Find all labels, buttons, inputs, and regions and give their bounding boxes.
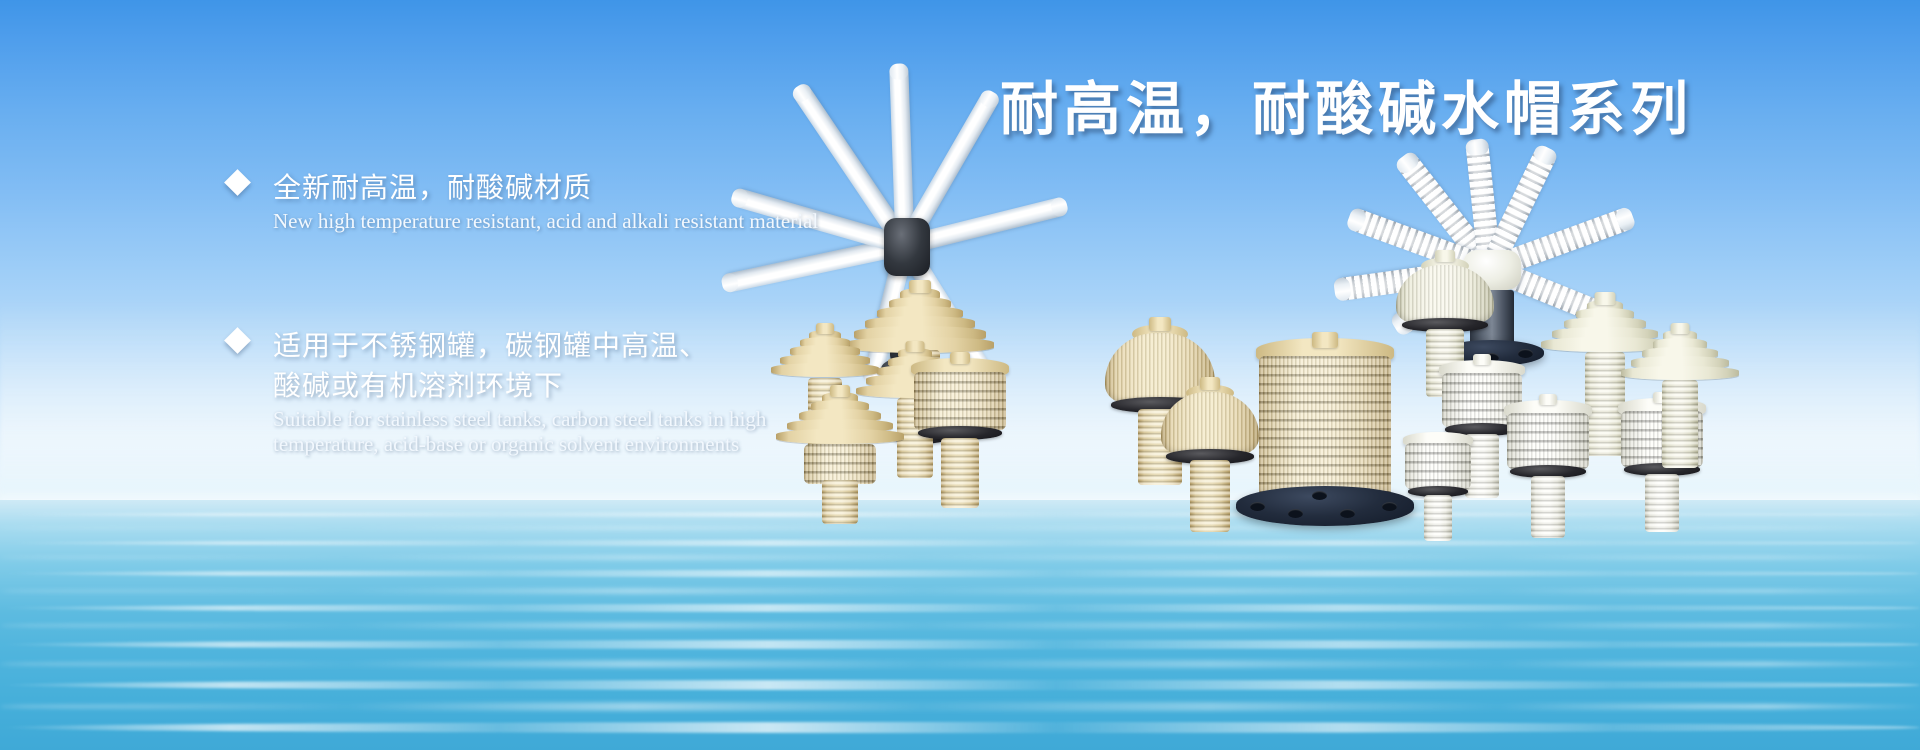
feature-bullet-2-cn: 适用于不锈钢罐，碳钢罐中高温、 酸碱或有机溶剂环境下 [273, 326, 1028, 406]
feature-bullet-1-en: New high temperature resistant, acid and… [273, 209, 1028, 234]
water-background [0, 500, 1920, 750]
page-title: 耐高温，耐酸碱水帽系列 [1000, 62, 1693, 146]
feature-bullet-2-en: Suitable for stainless steel tanks, carb… [273, 407, 1028, 457]
feature-bullet-list: 全新耐高温，耐酸碱材质 New high temperature resista… [228, 168, 1028, 457]
diamond-bullet-icon [224, 169, 251, 196]
feature-bullet-1: 全新耐高温，耐酸碱材质 New high temperature resista… [228, 168, 1028, 234]
feature-bullet-2: 适用于不锈钢罐，碳钢罐中高温、 酸碱或有机溶剂环境下 Suitable for … [228, 326, 1028, 457]
banner-stage: 耐高温，耐酸碱水帽系列 全新耐高温，耐酸碱材质 New high tempera… [0, 0, 1920, 750]
diamond-bullet-icon [224, 327, 251, 354]
feature-bullet-1-cn: 全新耐高温，耐酸碱材质 [273, 168, 1028, 208]
